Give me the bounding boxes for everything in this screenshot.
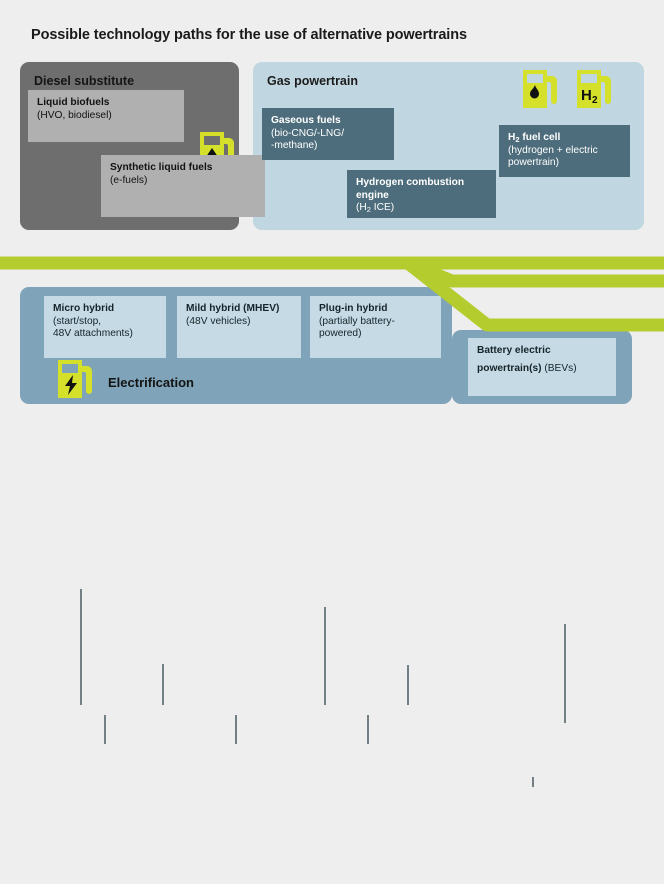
card-subtext-line2: powertrain) <box>508 157 624 170</box>
card-subtext-line2: -methane) <box>271 140 388 153</box>
card-subtext-line1: (hydrogen + electric <box>508 145 624 158</box>
panel-title-electrification: Electrification <box>108 375 194 390</box>
diagram-canvas: Diesel substitute Gas powertrain H 2 Ele… <box>0 0 664 442</box>
card-heading-line1: Battery electric <box>477 345 610 358</box>
panel-title-diesel-substitute: Diesel substitute <box>34 74 134 88</box>
fuel-pump-flame-icon <box>521 62 563 110</box>
svg-text:H: H <box>581 87 592 104</box>
card-battery-electric-powertrains[interactable]: Battery electric powertrain(s) (BEVs) <box>468 338 616 396</box>
card-synthetic-liquid-fuels[interactable]: Synthetic liquid fuels (e-fuels) <box>101 155 265 217</box>
card-plug-in-hybrid[interactable]: Plug-in hybrid (partially battery-powere… <box>310 296 441 358</box>
page-title: Possible technology paths for the use of… <box>31 27 467 43</box>
card-subtext: (48V vehicles) <box>186 316 295 329</box>
card-subtext: (H2 ICE) <box>356 202 490 215</box>
card-heading-line1: Hydrogen combustion <box>356 177 490 190</box>
card-heading: Gaseous fuels <box>271 115 388 128</box>
fuel-pump-h2-icon: H 2 <box>575 62 623 110</box>
card-heading: H2 fuel cell <box>508 132 624 145</box>
svg-text:2: 2 <box>592 95 598 106</box>
card-heading: Liquid biofuels <box>37 97 178 110</box>
connector-lines <box>0 447 664 884</box>
card-subtext: (e-fuels) <box>110 175 259 188</box>
card-heading: Mild hybrid (MHEV) <box>186 303 295 316</box>
card-gaseous-fuels[interactable]: Gaseous fuels (bio-CNG/-LNG/ -methane) <box>262 108 394 160</box>
card-heading: Synthetic liquid fuels <box>110 162 259 175</box>
card-heading: Micro hybrid <box>53 303 160 316</box>
card-subtext: (BEVs) <box>542 363 577 374</box>
card-heading-line2: powertrain(s) <box>477 363 542 374</box>
card-mild-hybrid[interactable]: Mild hybrid (MHEV) (48V vehicles) <box>177 296 301 358</box>
card-subtext: (HVO, biodiesel) <box>37 110 178 123</box>
card-subtext-line1: (bio-CNG/-LNG/ <box>271 128 388 141</box>
card-micro-hybrid[interactable]: Micro hybrid (start/stop, 48V attachment… <box>44 296 166 358</box>
card-subtext-line2: 48V attachments) <box>53 328 160 341</box>
fuel-pump-lightning-icon <box>56 352 98 400</box>
panel-title-gas-powertrain: Gas powertrain <box>267 74 358 88</box>
card-hydrogen-combustion-engine[interactable]: Hydrogen combustion engine (H2 ICE) <box>347 170 496 218</box>
card-h2-fuel-cell[interactable]: H2 fuel cell (hydrogen + electric powert… <box>499 125 630 177</box>
card-subtext: (partially battery-powered) <box>319 316 435 341</box>
card-liquid-biofuels[interactable]: Liquid biofuels (HVO, biodiesel) <box>28 90 184 142</box>
card-heading: Plug-in hybrid <box>319 303 435 316</box>
card-heading-line2: engine <box>356 190 490 203</box>
card-subtext-line1: (start/stop, <box>53 316 160 329</box>
